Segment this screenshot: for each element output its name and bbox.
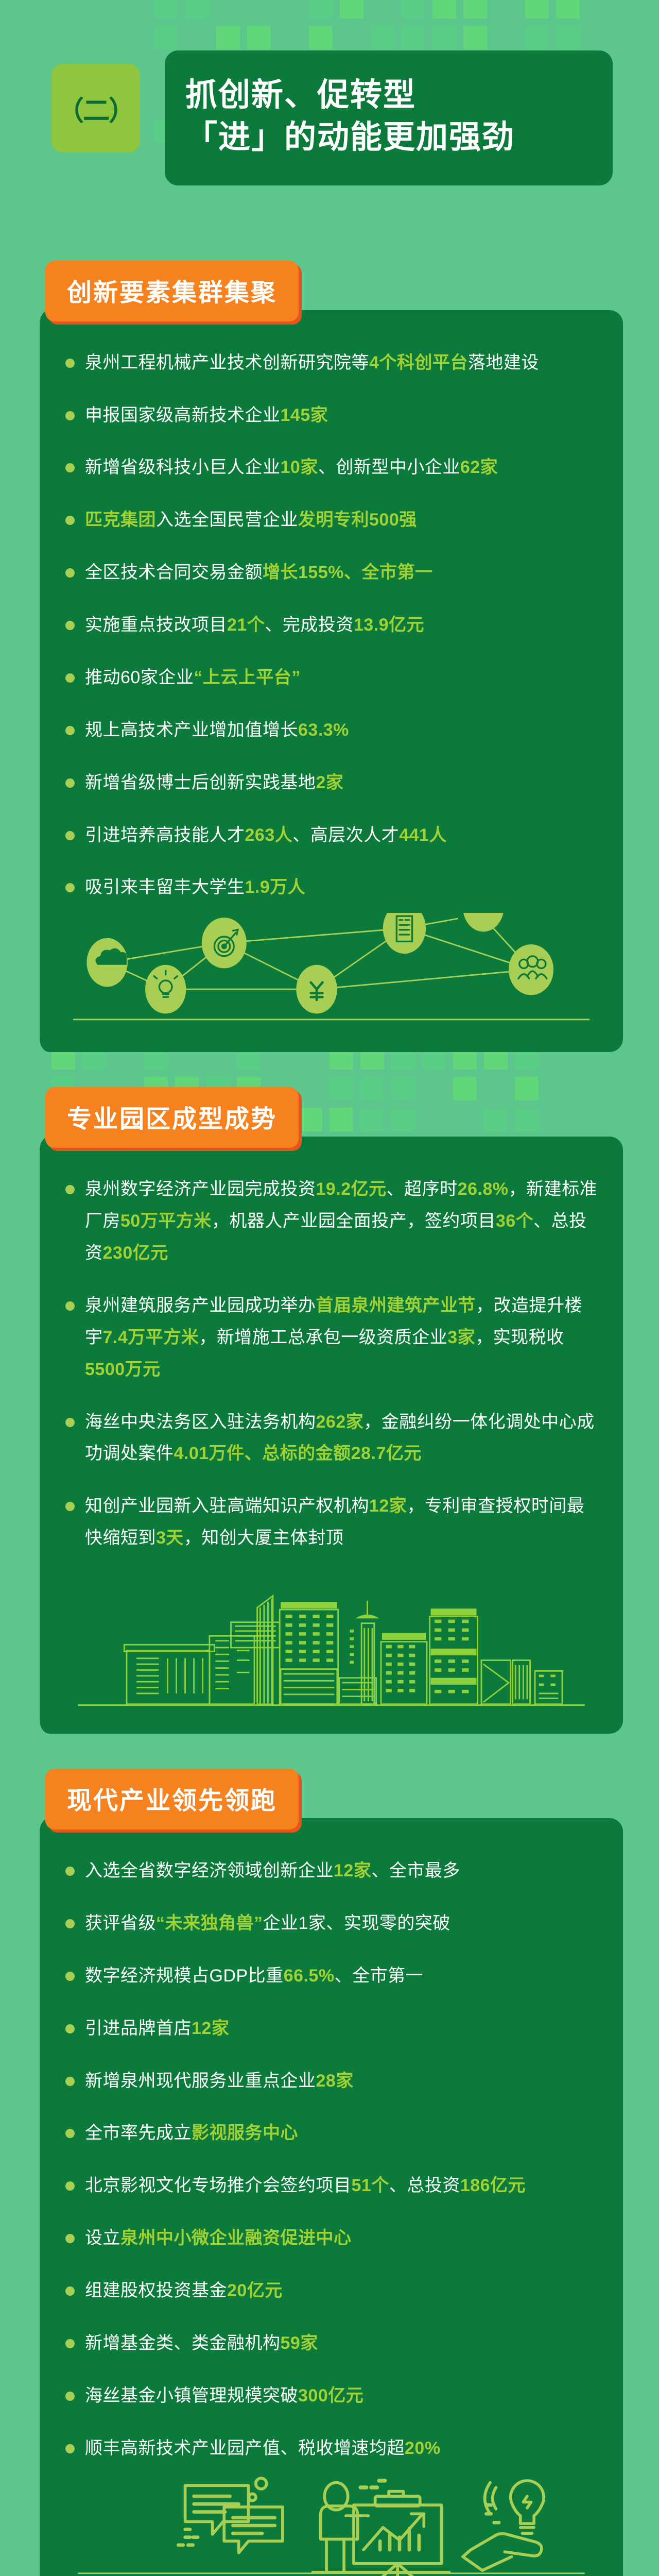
- list-item: 顺丰高新技术产业园产值、税收增速均超20%: [63, 2433, 599, 2465]
- body-text: 海丝中央法务区入驻法务机构: [85, 1412, 316, 1432]
- body-text: 引进品牌首店: [85, 2019, 192, 2038]
- highlight-text: 21个: [227, 615, 265, 635]
- body-text: 、全市最多: [371, 1861, 460, 1880]
- highlight-text: 1.9万人: [245, 877, 306, 897]
- highlight-text: 26.8%: [458, 1179, 509, 1199]
- highlight-text: 3天: [156, 1528, 184, 1548]
- highlight-text: 50万平方米: [120, 1211, 212, 1231]
- body-text: ，知创大厦主体封顶: [184, 1528, 344, 1548]
- body-text: 全区技术合同交易金额: [85, 563, 263, 582]
- list-item: 新增省级博士后创新实践基地2家: [63, 767, 599, 799]
- highlight-text: 441人: [399, 825, 447, 845]
- body-text: 知创产业园新入驻高端知识产权机构: [85, 1496, 369, 1516]
- section-banner-modern-industry: 现代产业领先领跑: [45, 1769, 299, 1829]
- highlight-text: 增长155%、全市第一: [263, 563, 432, 582]
- highlight-text: 59家: [281, 2333, 318, 2353]
- highlight-text: 10家: [281, 457, 318, 477]
- list-item: 获评省级“未来独角兽”企业1家、实现零的突破: [63, 1908, 599, 1940]
- highlight-text: “上云上平台”: [194, 668, 301, 687]
- list-item: 规上高技术产业增加值增长63.3%: [63, 715, 599, 747]
- list-item: 申报国家级高新技术企业145家: [63, 400, 599, 432]
- list-item: 数字经济规模占GDP比重66.5%、全市第一: [63, 1960, 599, 1992]
- highlight-text: 泉州中小微企业融资促进中心: [120, 2228, 352, 2248]
- list-item: 泉州建筑服务产业园成功举办首届泉州建筑产业节，改造提升楼宇7.4万平方米，新增施…: [63, 1290, 599, 1386]
- section-banner-innovation-elements: 创新要素集群集聚: [45, 261, 299, 321]
- highlight-text: “未来独角兽”: [156, 1913, 263, 1933]
- highlight-text: 匹克集团: [85, 510, 156, 530]
- section-banner-professional-parks: 专业园区成型成势: [45, 1087, 299, 1148]
- section-body-innovation-elements: 泉州工程机械产业技术创新研究院等4个科创平台落地建设申报国家级高新技术企业145…: [36, 310, 623, 1053]
- list-item: 引进品牌首店12家: [63, 2013, 599, 2045]
- highlight-text: 262家: [316, 1412, 364, 1432]
- section-number-badge: （二）: [51, 64, 140, 152]
- list-item: 吸引来丰留丰大学生1.9万人: [63, 872, 599, 904]
- body-text: ，实现税收: [475, 1328, 564, 1347]
- list-item: 设立泉州中小微企业融资促进中心: [63, 2223, 599, 2255]
- body-text: ，机器人产业园全面投产，签约项目: [212, 1211, 496, 1231]
- highlight-text: 13.9亿元: [354, 615, 424, 635]
- highlight-text: 2家: [316, 773, 344, 792]
- body-text: 规上高技术产业增加值增长: [85, 720, 298, 740]
- body-text: 全市率先成立: [85, 2123, 192, 2143]
- body-text: 新增泉州现代服务业重点企业: [85, 2071, 316, 2091]
- section-modern-industry: 现代产业领先领跑入选全省数字经济领域创新企业12家、全市最多获评省级“未来独角兽…: [36, 1734, 623, 2576]
- network-nodes-illustration: [63, 913, 599, 1031]
- highlight-text: 36个: [496, 1211, 533, 1231]
- body-text: 顺丰高新技术产业园产值、税收增速均超: [85, 2438, 405, 2458]
- highlight-text: 7.4万平方米: [103, 1328, 199, 1347]
- list-item: 实施重点技改项目21个、完成投资13.9亿元: [63, 609, 599, 641]
- body-text: 入选全省数字经济领域创新企业: [85, 1861, 334, 1880]
- body-text: 泉州数字经济产业园完成投资: [85, 1179, 316, 1199]
- body-text: 吸引来丰留丰大学生: [85, 877, 245, 897]
- highlight-text: 12家: [192, 2019, 229, 2038]
- list-item: 新增省级科技小巨人企业10家、创新型中小企业62家: [63, 452, 599, 484]
- bullet-list-professional-parks: 泉州数字经济产业园完成投资19.2亿元、超序时26.8%，新建标准厂房50万平方…: [63, 1174, 599, 1554]
- highlight-text: 5500万元: [85, 1360, 161, 1379]
- list-item: 海丝中央法务区入驻法务机构262家，金融纠纷一体化调处中心成功调处案件4.01万…: [63, 1406, 599, 1470]
- highlight-text: 3家: [447, 1328, 475, 1347]
- list-item: 海丝基金小镇管理规模突破300亿元: [63, 2380, 599, 2412]
- body-text: 新增省级博士后创新实践基地: [85, 773, 316, 792]
- body-text: 组建股权投资基金: [85, 2281, 227, 2300]
- body-text: 泉州工程机械产业技术创新研究院等: [85, 353, 369, 372]
- list-item: 新增基金类、类金融机构59家: [63, 2328, 599, 2360]
- list-item: 全区技术合同交易金额增长155%、全市第一: [63, 557, 599, 589]
- list-item: 匹克集团入选全国民营企业发明专利500强: [63, 504, 599, 536]
- highlight-text: 62家: [460, 457, 498, 477]
- highlight-text: 12家: [334, 1861, 371, 1880]
- highlight-text: 263人: [245, 825, 293, 845]
- list-item: 引进培养高技能人才263人、高层次人才441人: [63, 820, 599, 852]
- highlight-text: 4个科创平台: [369, 353, 468, 372]
- body-text: 获评省级: [85, 1913, 156, 1933]
- business-icons-illustration: [63, 2474, 599, 2576]
- body-text: 推动60家企业: [85, 668, 194, 687]
- body-text: 、高层次人才: [292, 825, 399, 845]
- list-item: 北京影视文化专场推介会签约项目51个、总投资186亿元: [63, 2170, 599, 2202]
- body-text: 申报国家级高新技术企业: [85, 405, 281, 425]
- list-item: 知创产业园新入驻高端知识产权机构12家，专利审查授权时间最快缩短到3天，知创大厦…: [63, 1490, 599, 1554]
- body-text: 实施重点技改项目: [85, 615, 227, 635]
- highlight-text: 63.3%: [298, 720, 349, 740]
- highlight-text: 影视服务中心: [192, 2123, 298, 2143]
- body-text: 、总投资: [389, 2176, 460, 2195]
- section-body-modern-industry: 入选全省数字经济领域创新企业12家、全市最多获评省级“未来独角兽”企业1家、实现…: [36, 1818, 623, 2576]
- highlight-text: 4.01万件、总标的金额28.7亿元: [174, 1444, 422, 1463]
- section-professional-parks: 专业园区成型成势泉州数字经济产业园完成投资19.2亿元、超序时26.8%，新建标…: [36, 1052, 623, 1734]
- body-text: 、超序时: [387, 1179, 458, 1199]
- body-text: 、创新型中小企业: [318, 457, 460, 477]
- bullet-list-innovation-elements: 泉州工程机械产业技术创新研究院等4个科创平台落地建设申报国家级高新技术企业145…: [63, 347, 599, 904]
- body-text: 、完成投资: [265, 615, 354, 635]
- body-text: 设立: [85, 2228, 120, 2248]
- list-item: 新增泉州现代服务业重点企业28家: [63, 2065, 599, 2097]
- body-text: 引进培养高技能人才: [85, 825, 245, 845]
- highlight-text: 19.2亿元: [316, 1179, 387, 1199]
- poster-header: （二） 抓创新、促转型 「进」的动能更加强劲: [165, 50, 613, 185]
- highlight-text: 20%: [405, 2438, 441, 2458]
- page-title-line-1: 抓创新、促转型: [185, 74, 592, 116]
- body-text: 新增基金类、类金融机构: [85, 2333, 281, 2353]
- highlight-text: 首届泉州建筑产业节: [316, 1296, 476, 1315]
- page-title-line-2: 「进」的动能更加强劲: [185, 116, 592, 159]
- city-skyline-illustration: [63, 1564, 599, 1713]
- list-item: 推动60家企业“上云上平台”: [63, 662, 599, 694]
- body-text: 新增省级科技小巨人企业: [85, 457, 281, 477]
- highlight-text: 300亿元: [298, 2386, 363, 2405]
- highlight-text: 51个: [352, 2176, 389, 2195]
- sections-container: 创新要素集群集聚泉州工程机械产业技术创新研究院等4个科创平台落地建设申报国家级高…: [0, 226, 659, 2576]
- highlight-text: 66.5%: [284, 1966, 335, 1986]
- body-text: 泉州建筑服务产业园成功举办: [85, 1296, 316, 1315]
- body-text: 海丝基金小镇管理规模突破: [85, 2386, 298, 2405]
- highlight-text: 186亿元: [460, 2176, 526, 2195]
- list-item: 泉州数字经济产业园完成投资19.2亿元、超序时26.8%，新建标准厂房50万平方…: [63, 1174, 599, 1269]
- list-item: 全市率先成立影视服务中心: [63, 2117, 599, 2149]
- section-body-professional-parks: 泉州数字经济产业园完成投资19.2亿元、超序时26.8%，新建标准厂房50万平方…: [36, 1137, 623, 1734]
- highlight-text: 12家: [369, 1496, 407, 1516]
- body-text: 、全市第一: [335, 1966, 424, 1986]
- body-text: 北京影视文化专场推介会签约项目: [85, 2176, 352, 2195]
- highlight-text: 145家: [281, 405, 328, 425]
- highlight-text: 20亿元: [227, 2281, 283, 2300]
- body-text: 落地建设: [468, 353, 539, 372]
- highlight-text: 230亿元: [103, 1243, 168, 1263]
- body-text: 数字经济规模占GDP比重: [85, 1966, 284, 1986]
- body-text: 企业1家、实现零的突破: [263, 1913, 450, 1933]
- infographic-poster: （二） 抓创新、促转型 「进」的动能更加强劲 创新要素集群集聚泉州工程机械产业技…: [0, 0, 659, 2576]
- body-text: 入选全国民营企业: [156, 510, 298, 530]
- highlight-text: 发明专利500强: [298, 510, 417, 530]
- list-item: 组建股权投资基金20亿元: [63, 2275, 599, 2307]
- list-item: 泉州工程机械产业技术创新研究院等4个科创平台落地建设: [63, 347, 599, 379]
- highlight-text: 28家: [316, 2071, 354, 2091]
- section-innovation-elements: 创新要素集群集聚泉州工程机械产业技术创新研究院等4个科创平台落地建设申报国家级高…: [36, 226, 623, 1053]
- list-item: 入选全省数字经济领域创新企业12家、全市最多: [63, 1855, 599, 1887]
- body-text: ，新增施工总承包一级资质企业: [199, 1328, 447, 1347]
- bullet-list-modern-industry: 入选全省数字经济领域创新企业12家、全市最多获评省级“未来独角兽”企业1家、实现…: [63, 1855, 599, 2465]
